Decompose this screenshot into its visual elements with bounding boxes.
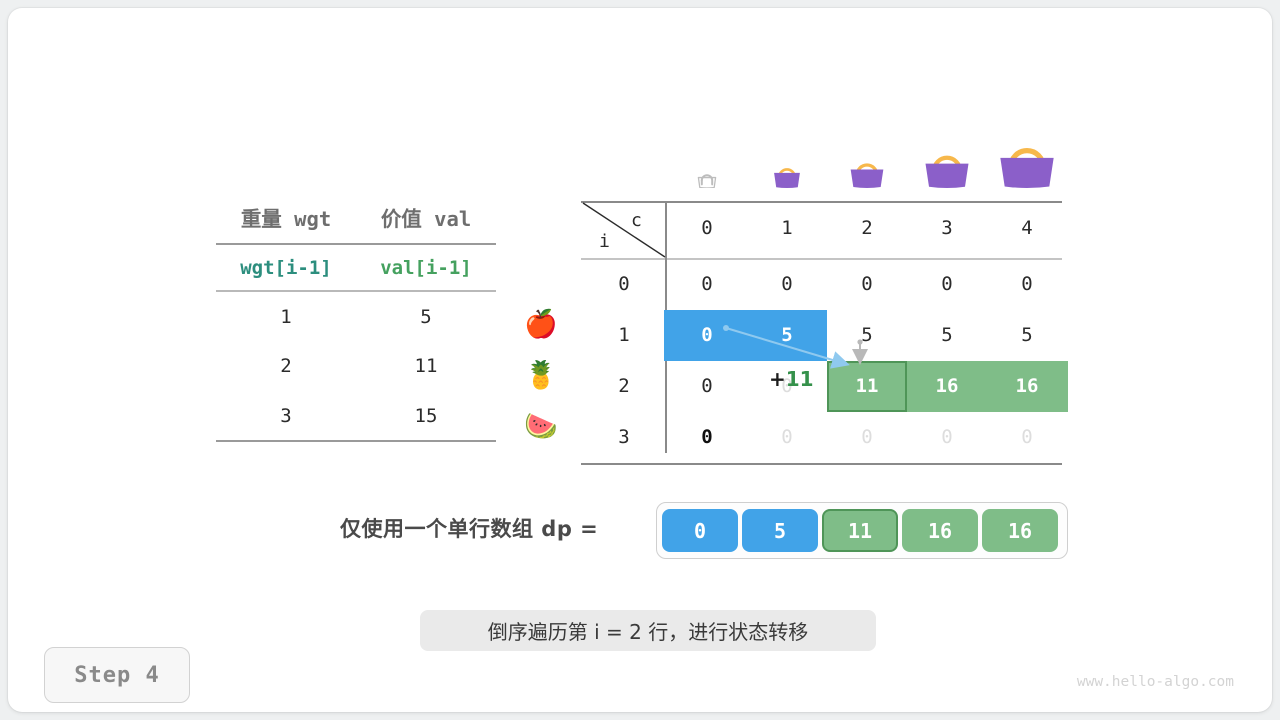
dp-grid-col-header-1: 1 [747,217,827,239]
fruit-icon-apple: 🍎 [513,311,569,338]
item-wgt-3: 3 [216,391,356,441]
dp-cell-3-2: 0 [827,412,907,463]
bag-icon-capacity-4 [996,136,1058,188]
item-table-header-wgt: 重量 wgt [216,196,356,244]
dp-array-cell-2: 11 [822,509,898,552]
dp-cell-3-1: 0 [747,412,827,463]
dp-grid-row-header-0: 0 [584,259,664,310]
item-table-row: 1 5 [216,291,496,341]
dp-cell-2-2: 11 [827,361,907,412]
dp-grid-row-header-2: 2 [584,361,664,412]
dp-cell-0-3: 0 [907,259,987,310]
dp-grid-col-header-2: 2 [827,217,907,239]
dp-cell-1-2: 5 [827,310,907,361]
dp-cell-2-3: 16 [907,361,987,412]
item-wgt-1: 1 [216,291,356,341]
item-table-header-row: 重量 wgt 价值 val [216,196,496,244]
dp-array-cell-1: 5 [742,509,818,552]
item-table: 重量 wgt 价值 val wgt[i-1] val[i-1] 1 5 2 11… [216,196,496,442]
step-caption: 倒序遍历第 i = 2 行，进行状态转移 [420,610,876,651]
step-badge: Step 4 [44,647,190,703]
dp-grid-row-header-1: 1 [584,310,664,361]
dp-cell-0-1: 0 [747,259,827,310]
item-table-subheader-wgt: wgt[i-1] [216,244,356,291]
bag-icon-capacity-1 [772,162,802,188]
dp-cell-2-4: 16 [987,361,1067,412]
dp-grid-col-header-3: 3 [907,217,987,239]
dp-grid: c i 01234 0123 00000055550011161600000 +… [581,201,1062,453]
item-table-subheader-row: wgt[i-1] val[i-1] [216,244,496,291]
dp-cell-1-1: 5 [747,310,827,361]
watermark: www.hello-algo.com [1077,674,1234,690]
dp-cell-3-4: 0 [987,412,1067,463]
item-table-row: 3 15 [216,391,496,441]
slide-card: 重量 wgt 价值 val wgt[i-1] val[i-1] 1 5 2 11… [8,8,1272,712]
bag-icon-capacity-2 [848,156,886,188]
transition-annotation: +11 [769,367,814,391]
dp-cell-3-0: 0 [667,412,747,463]
dp-cell-3-3: 0 [907,412,987,463]
annotation-value: 11 [786,367,814,391]
item-val-3: 15 [356,391,496,441]
dp-array-cell-3: 16 [902,509,978,552]
dp-cell-0-2: 0 [827,259,907,310]
dp-array-cell-0: 0 [662,509,738,552]
dp-cell-0-4: 0 [987,259,1067,310]
dp-cell-1-3: 5 [907,310,987,361]
dp-grid-row-header-3: 3 [584,412,664,463]
item-wgt-2: 2 [216,341,356,391]
dp-cell-1-0: 0 [667,310,747,361]
item-val-2: 11 [356,341,496,391]
dp-cell-0-0: 0 [667,259,747,310]
dp-grid-col-header-0: 0 [667,217,747,239]
bag-icon-capacity-0 [697,170,717,188]
corner-label-c: c [631,210,642,231]
dp-cell-1-4: 5 [987,310,1067,361]
dp-array-label: 仅使用一个单行数组 dp = [340,513,598,543]
item-val-1: 5 [356,291,496,341]
item-table-row: 2 11 [216,341,496,391]
dp-grid-corner-header: c i [581,201,667,259]
dp-array-container: 05111616 [656,502,1068,559]
item-table-subheader-val: val[i-1] [356,244,496,291]
dp-array-cell-4: 16 [982,509,1058,552]
grid-rule-bottom [581,463,1062,465]
annotation-sign: + [769,367,786,391]
dp-cell-2-0: 0 [667,361,747,412]
fruit-icon-watermelon: 🍉 [513,413,569,440]
bag-icon-capacity-3 [922,146,972,188]
fruit-icon-pineapple: 🍍 [513,362,569,389]
item-table-header-val: 价值 val [356,196,496,244]
dp-grid-col-header-4: 4 [987,217,1067,239]
corner-label-i: i [599,231,610,252]
